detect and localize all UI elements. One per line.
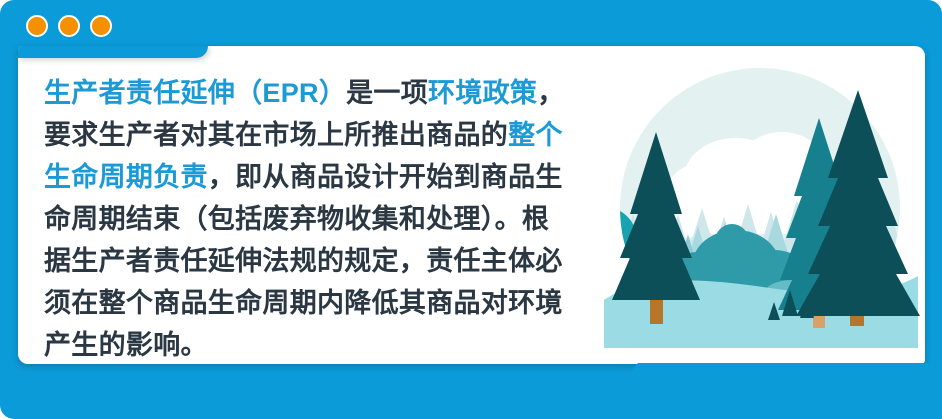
paragraph-body: 生产者责任延伸（EPR）是一项环境政策，要求生产者对其在市场上所推出商品的整个生… bbox=[44, 72, 574, 364]
text-segment-highlight-1: 生产者责任延伸（EPR） bbox=[44, 78, 346, 108]
tree-trunk-left bbox=[650, 296, 663, 324]
forest-illustration bbox=[586, 48, 925, 358]
window-controls bbox=[26, 15, 112, 37]
tab-notch bbox=[18, 46, 208, 58]
window-dot-3[interactable] bbox=[90, 15, 112, 37]
screenshot-root: 生产者责任延伸（EPR）是一项环境政策，要求生产者对其在市场上所推出商品的整个生… bbox=[0, 0, 942, 419]
content-card: 生产者责任延伸（EPR）是一项环境政策，要求生产者对其在市场上所推出商品的整个生… bbox=[18, 46, 925, 364]
text-segment-plain-1: 是一项 bbox=[346, 78, 428, 108]
window-dot-2[interactable] bbox=[58, 15, 80, 37]
text-segment-highlight-2: 环境政策 bbox=[428, 78, 537, 108]
window-dot-1[interactable] bbox=[26, 15, 48, 37]
bottom-right-wedge bbox=[592, 363, 942, 419]
